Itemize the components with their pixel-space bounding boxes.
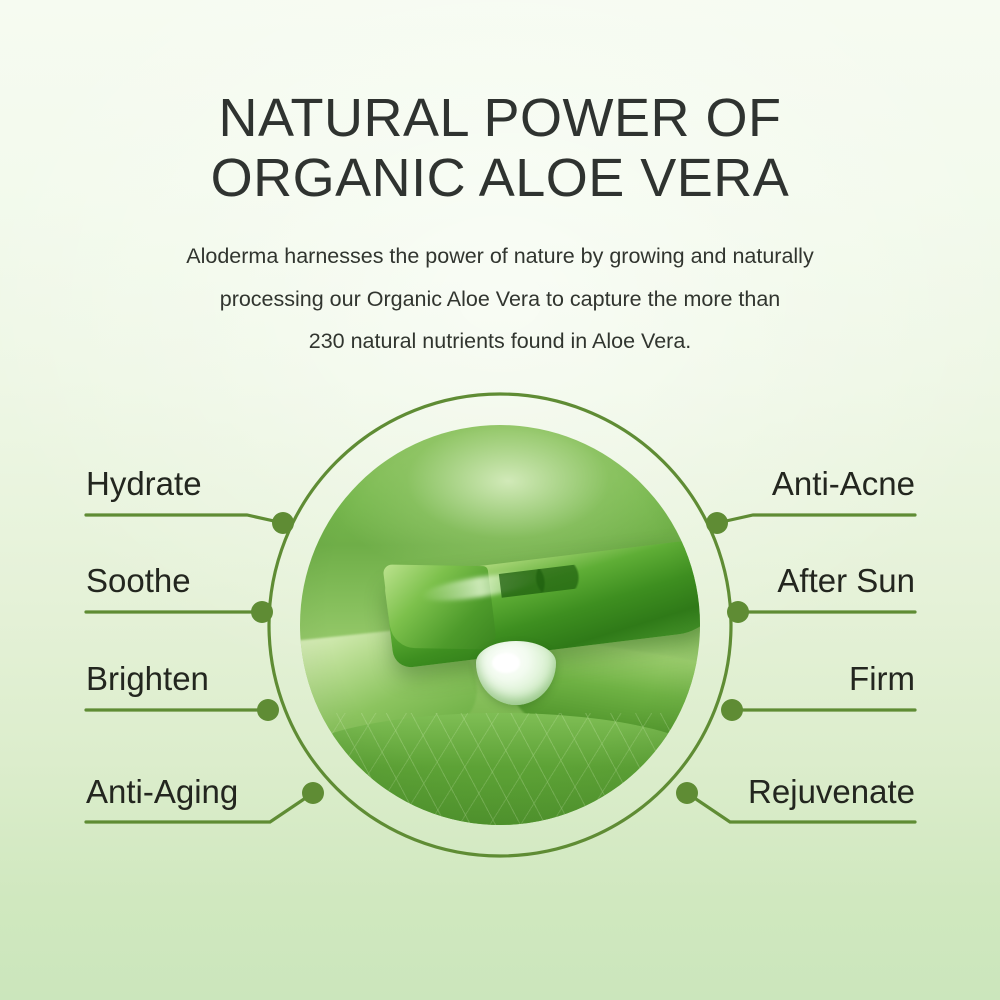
dot-rejuvenate	[676, 782, 698, 804]
benefit-label-brighten[interactable]: Brighten	[86, 660, 209, 698]
dot-soothe	[251, 601, 273, 623]
dot-anti-acne	[706, 512, 728, 534]
dot-after-sun	[727, 601, 749, 623]
benefit-label-anti-acne[interactable]: Anti-Acne	[772, 465, 915, 503]
dot-hydrate	[272, 512, 294, 534]
dot-anti-aging	[302, 782, 324, 804]
dot-brighten	[257, 699, 279, 721]
outer-ring-circle	[269, 394, 731, 856]
connector-anti-acne	[717, 515, 915, 523]
benefit-label-hydrate[interactable]: Hydrate	[86, 465, 202, 503]
page-subtitle: Aloderma harnesses the power of nature b…	[130, 209, 870, 363]
benefit-label-firm[interactable]: Firm	[849, 660, 915, 698]
dot-firm	[721, 699, 743, 721]
benefit-label-rejuvenate[interactable]: Rejuvenate	[748, 773, 915, 811]
aloe-vera-infographic: NATURAL POWER OF ORGANIC ALOE VERA Alode…	[0, 0, 1000, 1000]
benefit-label-after-sun[interactable]: After Sun	[777, 562, 915, 600]
page-title: NATURAL POWER OF ORGANIC ALOE VERA	[0, 0, 1000, 209]
connector-dots	[251, 512, 749, 804]
connector-hydrate	[86, 515, 283, 523]
header: NATURAL POWER OF ORGANIC ALOE VERA Alode…	[0, 0, 1000, 363]
benefit-label-anti-aging[interactable]: Anti-Aging	[86, 773, 238, 811]
benefit-label-soothe[interactable]: Soothe	[86, 562, 191, 600]
